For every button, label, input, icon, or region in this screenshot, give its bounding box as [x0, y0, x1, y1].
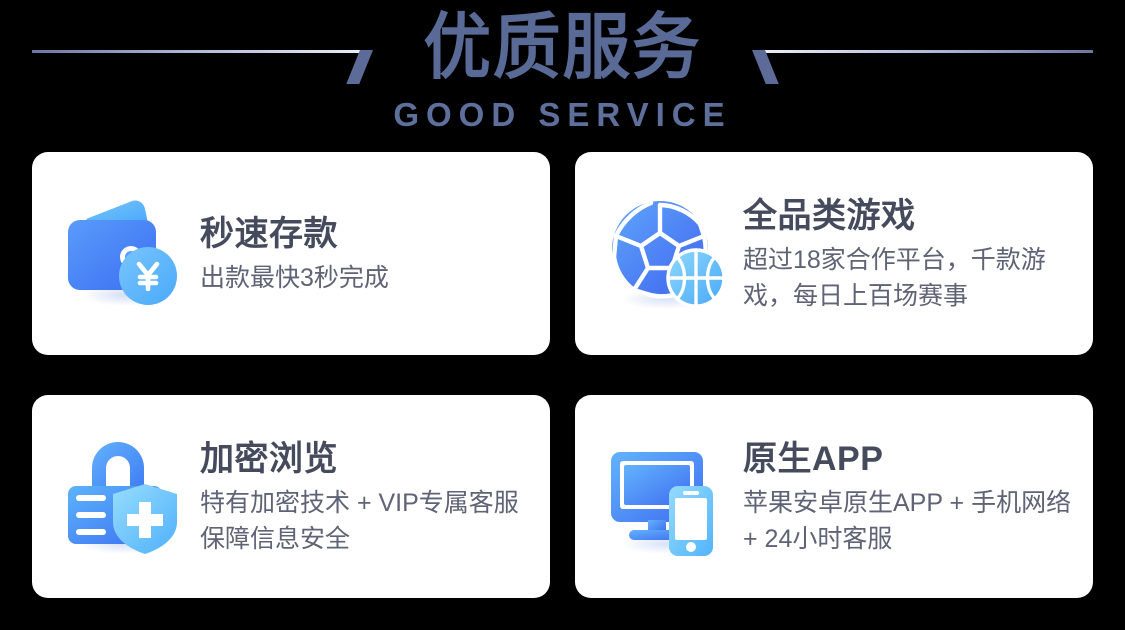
feature-card[interactable]: 加密浏览 特有加密技术 + VIP专属客服保障信息安全: [32, 395, 550, 598]
soccer-basketball-icon: [603, 191, 729, 317]
feature-card-text: 原生APP 苹果安卓原生APP + 手机网络 + 24小时客服: [743, 437, 1075, 557]
lock-shield-icon: [60, 434, 186, 560]
wallet-yen-icon: [60, 191, 186, 317]
page-title: 优质服务: [34, 6, 1092, 90]
monitor-phone-icon: [603, 434, 729, 560]
feature-card-subtitle: 特有加密技术 + VIP专属客服保障信息安全: [200, 485, 532, 557]
feature-card-text: 全品类游戏 超过18家合作平台，千款游戏，每日上百场赛事: [743, 194, 1075, 314]
page-subtitle: GOOD SERVICE: [0, 96, 1125, 134]
feature-card-title: 原生APP: [743, 437, 1075, 481]
feature-card-grid: 秒速存款 出款最快3秒完成: [32, 152, 1093, 598]
feature-card-title: 全品类游戏: [743, 194, 1075, 238]
promo-feature-page: 优质服务 GOOD SERVICE: [0, 0, 1125, 630]
page-header: 优质服务 GOOD SERVICE: [0, 0, 1125, 145]
feature-card-subtitle: 苹果安卓原生APP + 手机网络 + 24小时客服: [743, 485, 1075, 557]
feature-card[interactable]: 秒速存款 出款最快3秒完成: [32, 152, 550, 355]
feature-card-text: 加密浏览 特有加密技术 + VIP专属客服保障信息安全: [200, 437, 532, 557]
feature-card[interactable]: 原生APP 苹果安卓原生APP + 手机网络 + 24小时客服: [575, 395, 1093, 598]
feature-card-title: 加密浏览: [200, 437, 532, 481]
feature-card-subtitle: 超过18家合作平台，千款游戏，每日上百场赛事: [743, 242, 1075, 314]
feature-card-subtitle: 出款最快3秒完成: [200, 260, 532, 296]
feature-card-text: 秒速存款 出款最快3秒完成: [200, 212, 532, 296]
feature-card-title: 秒速存款: [200, 212, 532, 256]
feature-card[interactable]: 全品类游戏 超过18家合作平台，千款游戏，每日上百场赛事: [575, 152, 1093, 355]
